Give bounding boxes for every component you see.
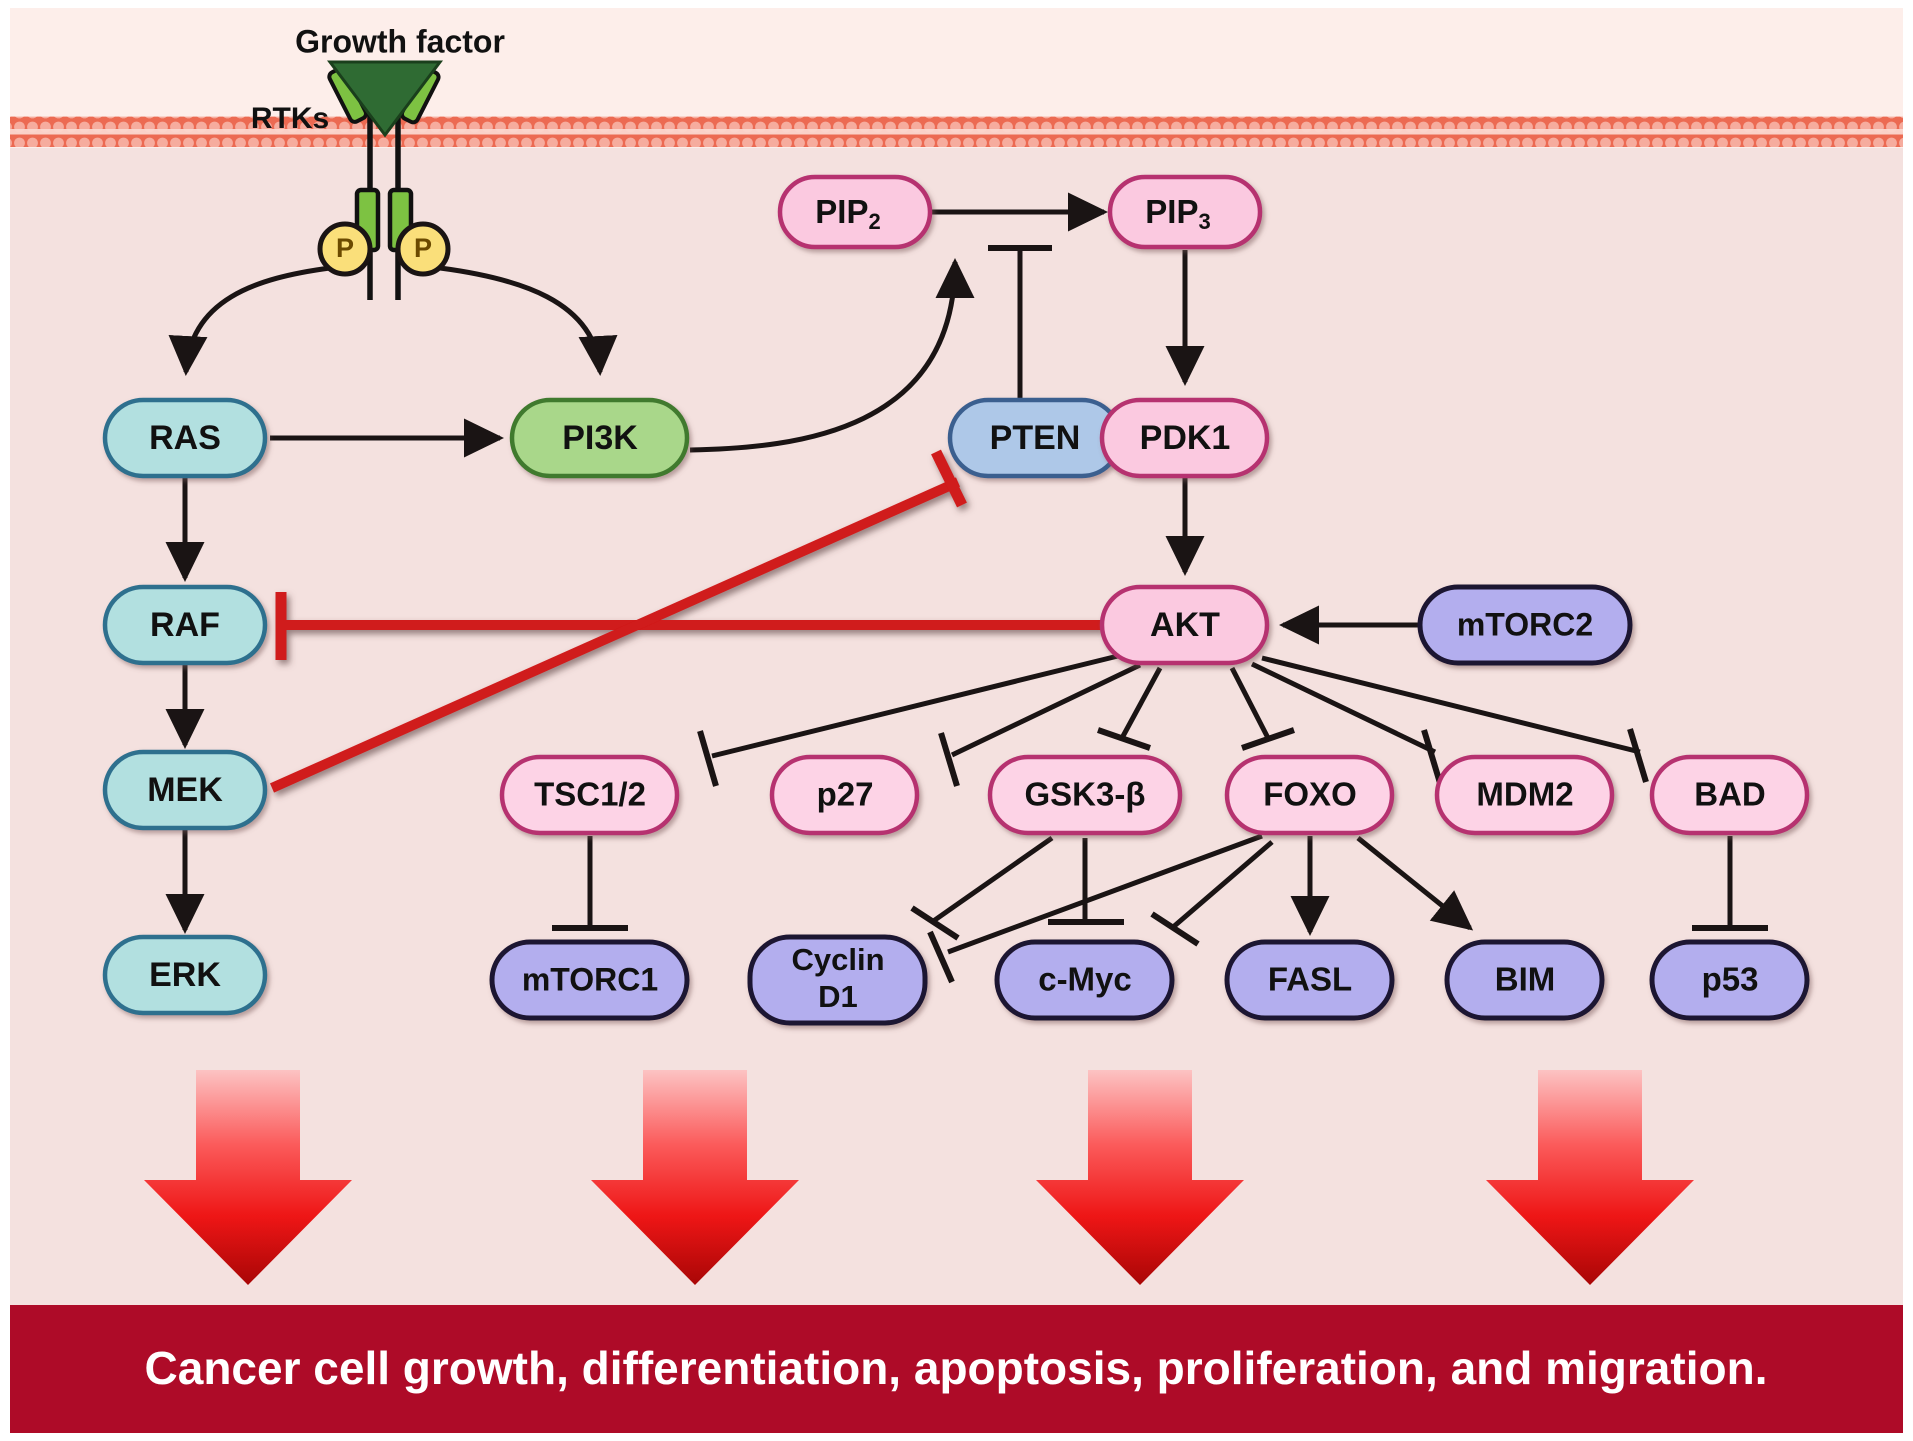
- figure-sheet: P P Growth factor RTKs: [0, 0, 1913, 1441]
- pathway-figure: P P Growth factor RTKs: [0, 0, 1913, 1441]
- node-mdm2[interactable]: [1437, 757, 1612, 833]
- growth-factor-label: Growth factor: [295, 23, 505, 59]
- node-mtorc2[interactable]: [1420, 587, 1630, 663]
- node-gsk3b[interactable]: [990, 757, 1180, 833]
- outcome-banner: Cancer cell growth, differentiation, apo…: [10, 1305, 1903, 1433]
- node-pip2[interactable]: [780, 177, 930, 247]
- node-cyclind1[interactable]: [750, 937, 925, 1023]
- node-akt[interactable]: [1102, 587, 1267, 663]
- node-pdk1[interactable]: [1102, 400, 1267, 476]
- node-bad[interactable]: [1652, 757, 1807, 833]
- rtks-label: RTKs: [251, 102, 329, 135]
- pathway-canvas: P P Growth factor RTKs: [0, 0, 1913, 1441]
- node-p53[interactable]: [1652, 942, 1807, 1018]
- node-foxo[interactable]: [1227, 757, 1392, 833]
- phospho-label-left: P: [336, 233, 354, 263]
- node-raf[interactable]: [105, 587, 265, 663]
- node-fasl[interactable]: [1227, 942, 1392, 1018]
- node-pten[interactable]: [950, 400, 1120, 476]
- outcome-banner-text: Cancer cell growth, differentiation, apo…: [145, 1342, 1768, 1394]
- node-mtorc1[interactable]: [492, 942, 687, 1018]
- node-tsc12[interactable]: [502, 757, 677, 833]
- node-pip3[interactable]: [1110, 177, 1260, 247]
- node-cmyc[interactable]: [997, 942, 1172, 1018]
- node-mek[interactable]: [105, 752, 265, 828]
- node-p27[interactable]: [772, 757, 917, 833]
- phospho-label-right: P: [414, 233, 432, 263]
- node-ras[interactable]: [105, 400, 265, 476]
- node-pi3k[interactable]: [512, 400, 687, 476]
- node-bim[interactable]: [1447, 942, 1602, 1018]
- node-erk[interactable]: [105, 937, 265, 1013]
